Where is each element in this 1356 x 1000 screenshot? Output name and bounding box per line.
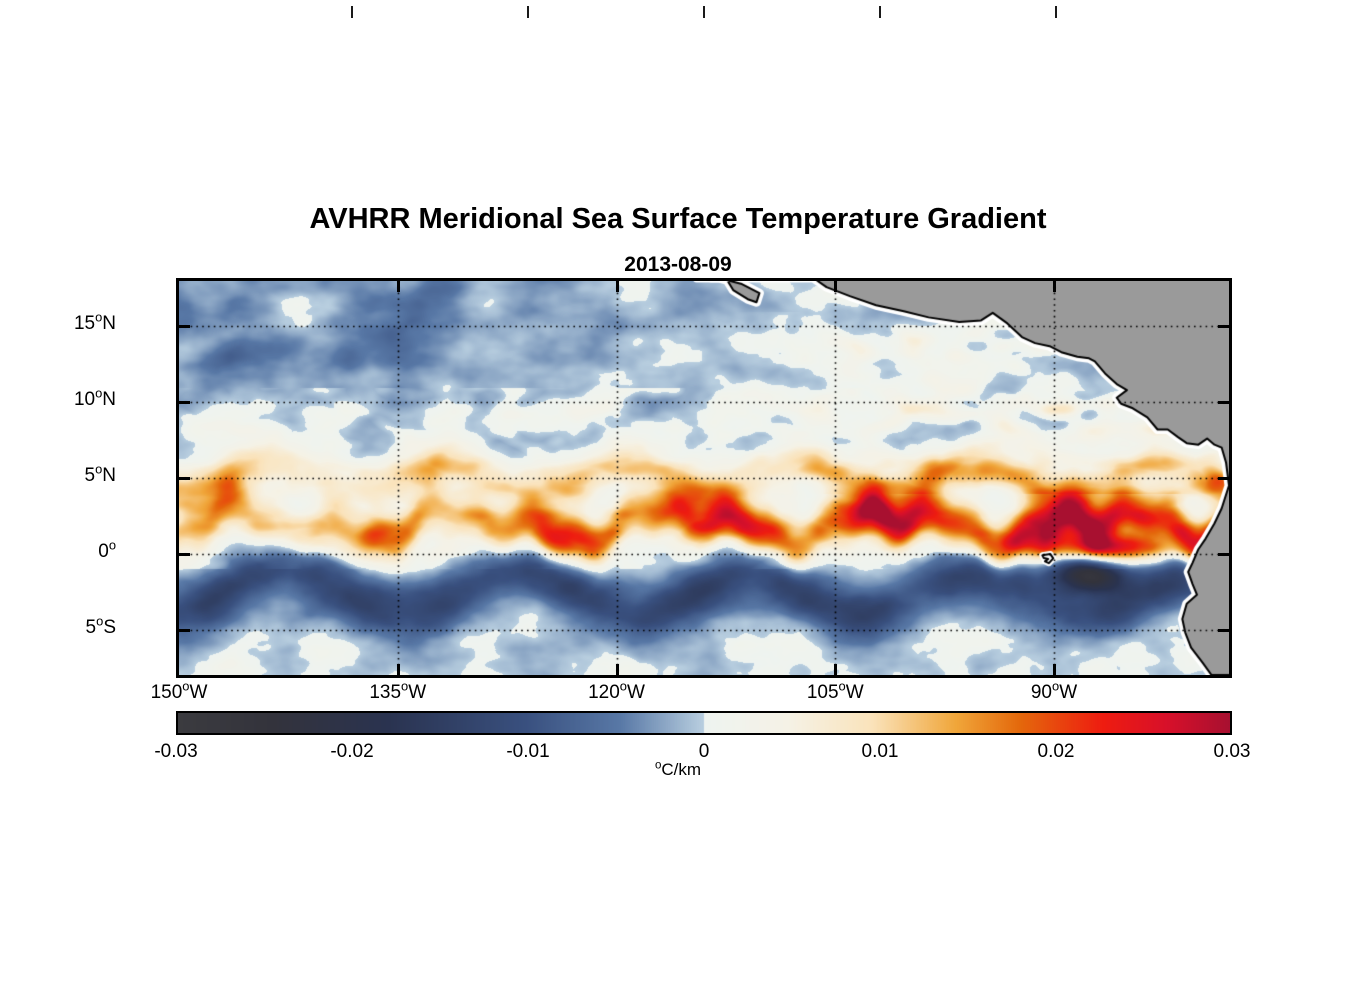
colorbar-tick-mark xyxy=(1055,6,1057,18)
longitude-tick-label: 135oW xyxy=(328,682,468,704)
latitude-tick-label: 0o xyxy=(0,541,116,563)
colorbar-tick-mark xyxy=(351,6,353,18)
latitude-tick-mark xyxy=(179,553,190,556)
latitude-tick-mark xyxy=(1218,401,1229,404)
land-mask-layer xyxy=(179,281,1229,675)
colorbar-tick-mark xyxy=(879,6,881,18)
longitude-tick-mark xyxy=(397,281,400,292)
longitude-tick-mark xyxy=(397,664,400,675)
latitude-tick-mark xyxy=(1218,325,1229,328)
longitude-tick-mark xyxy=(616,664,619,675)
longitude-tick-mark xyxy=(834,281,837,292)
figure-canvas: AVHRR Meridional Sea Surface Temperature… xyxy=(0,0,1356,1000)
latitude-tick-label: 10oN xyxy=(0,389,116,411)
latitude-tick-mark xyxy=(179,401,190,404)
latitude-tick-mark xyxy=(179,325,190,328)
latitude-tick-label: 15oN xyxy=(0,313,116,335)
colorbar-tick-mark xyxy=(703,6,705,18)
map-axes xyxy=(176,278,1232,678)
colorbar xyxy=(176,711,1232,735)
longitude-tick-label: 150oW xyxy=(109,682,249,704)
latitude-tick-label: 5oN xyxy=(0,465,116,487)
latitude-tick-mark xyxy=(179,477,190,480)
latitude-tick-mark xyxy=(1218,629,1229,632)
latitude-tick-label: 5oS xyxy=(0,617,116,639)
longitude-tick-label: 120oW xyxy=(547,682,687,704)
latitude-tick-mark xyxy=(179,629,190,632)
longitude-tick-mark xyxy=(834,664,837,675)
latitude-tick-mark xyxy=(1218,553,1229,556)
longitude-tick-label: 90oW xyxy=(984,682,1124,704)
longitude-tick-label: 105oW xyxy=(765,682,905,704)
colorbar-gradient xyxy=(178,713,1230,733)
colorbar-units-label: oC/km xyxy=(0,760,1356,780)
figure-subtitle: 2013-08-09 xyxy=(0,253,1356,277)
colorbar-tick-mark xyxy=(527,6,529,18)
longitude-tick-mark xyxy=(1053,281,1056,292)
figure-title: AVHRR Meridional Sea Surface Temperature… xyxy=(0,203,1356,236)
longitude-tick-mark xyxy=(1053,664,1056,675)
latitude-tick-mark xyxy=(1218,477,1229,480)
longitude-tick-mark xyxy=(616,281,619,292)
